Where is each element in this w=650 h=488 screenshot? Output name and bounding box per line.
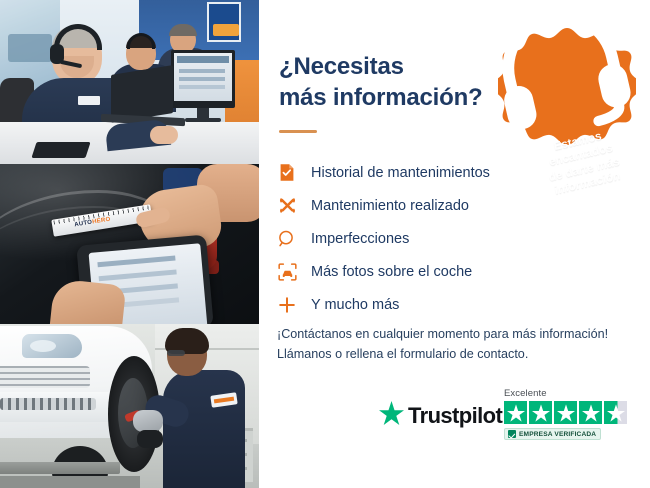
rating-label: Excelente (504, 388, 639, 399)
contact-paragraph-line-2: Llámanos o rellena el formulario de cont… (277, 345, 637, 365)
feature-item-imperfections[interactable]: Imperfecciones (277, 222, 577, 255)
car-grille (0, 366, 90, 388)
safety-glasses-icon (167, 350, 185, 356)
desk-tablet (31, 142, 90, 158)
star-4 (579, 401, 602, 424)
feature-label: Historial de mantenimientos (311, 165, 490, 181)
verified-label: EMPRESA VERIFICADA (519, 431, 596, 438)
feature-label: Mantenimiento realizado (311, 198, 469, 214)
photo-column: AUTOHERO (0, 0, 259, 488)
lift-arm-upper (0, 462, 120, 474)
car-scan-icon (277, 262, 297, 282)
mechanic-glove-upper (133, 410, 163, 432)
promo-card: AUTOHERO (0, 0, 650, 488)
magnifier-icon (277, 229, 297, 249)
feature-label: Más fotos sobre el coche (311, 264, 472, 280)
feature-label: Imperfecciones (311, 231, 409, 247)
feature-item-more-photos[interactable]: Más fotos sobre el coche (277, 255, 577, 288)
lift-arm-lower (0, 476, 140, 488)
car-lower-grille (0, 398, 96, 410)
content-panel: Estamos encantados de darte más informac… (259, 0, 650, 488)
trustpilot-score-block: Excelente (504, 388, 639, 443)
verified-check-icon (508, 430, 516, 438)
plus-icon (277, 295, 297, 315)
trustpilot-rating[interactable]: Trustpilot Excelente (379, 388, 639, 450)
mechanic-glove-lower (137, 430, 163, 448)
page-title-line-2: más información? (279, 84, 483, 111)
monitor-screen (174, 53, 232, 101)
feature-list: Historial de mantenimientos M (277, 156, 577, 321)
contact-paragraph: ¡Contáctanos en cualquier momento para m… (277, 325, 637, 365)
trustpilot-wordmark: Trustpilot (408, 403, 502, 429)
car-inspection-ruler-photo: AUTOHERO (0, 164, 259, 324)
mechanic-tire-inspection-photo (0, 324, 259, 488)
verified-business-badge: EMPRESA VERIFICADA (504, 428, 601, 440)
wrench-screwdriver-icon (277, 196, 297, 216)
mechanic-body (163, 370, 245, 488)
monitor-stand (197, 108, 209, 118)
call-center-agents-photo (0, 0, 259, 164)
agent-front-hand (150, 126, 178, 144)
star-3 (554, 401, 577, 424)
car-headlight (22, 334, 82, 358)
contact-paragraph-line-1: ¡Contáctanos en cualquier momento para m… (277, 325, 637, 345)
page-title-line-1: ¿Necesitas (279, 53, 404, 80)
star-5-partial (604, 401, 627, 424)
agent-name-badge (78, 96, 100, 105)
feature-item-much-more[interactable]: Y mucho más (277, 288, 577, 321)
star-1 (504, 401, 527, 424)
title-divider (279, 130, 317, 133)
page-title: ¿Necesitas más información? (279, 52, 529, 113)
star-rating (504, 401, 639, 424)
feature-label: Y mucho más (311, 297, 399, 313)
trustpilot-logo[interactable]: Trustpilot (379, 401, 502, 430)
feature-item-maintenance-done[interactable]: Mantenimiento realizado (277, 189, 577, 222)
wall-poster (207, 2, 241, 42)
clipboard-check-icon (277, 163, 297, 183)
trustpilot-star-icon (379, 401, 404, 430)
star-2 (529, 401, 552, 424)
